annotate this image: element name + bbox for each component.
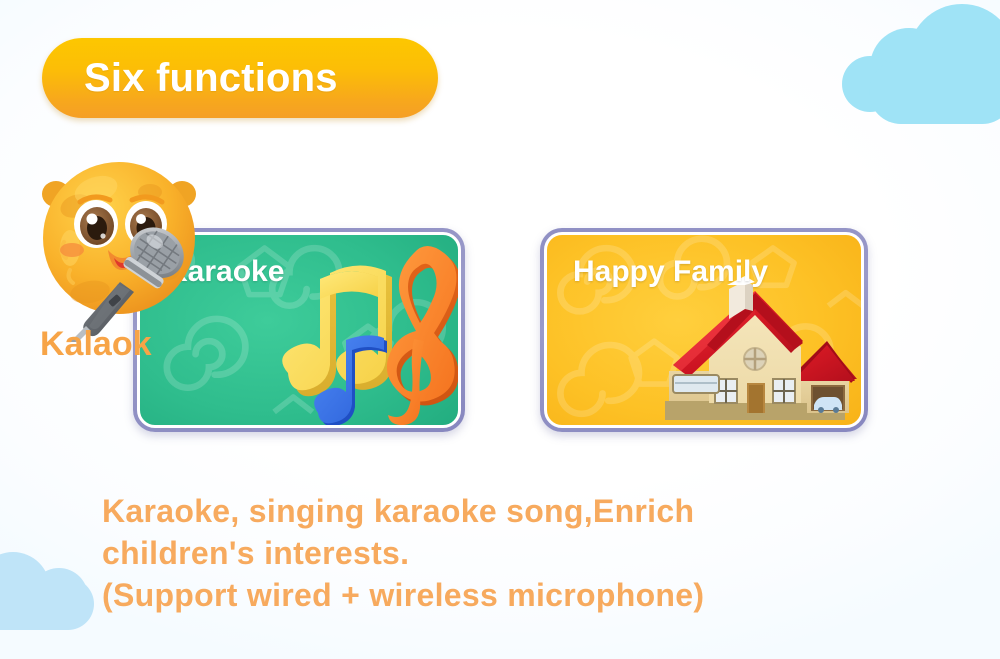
music-notes-icon [266,241,458,428]
caption-line-3: (Support wired + wireless microphone) [102,574,902,616]
kalaok-mascot-icon [30,146,210,342]
section-title-text: Six functions [42,56,338,101]
house-icon [651,275,857,425]
feature-card-happy-family[interactable]: Happy Family [540,228,868,432]
feature-card-happy-family-title: Happy Family [573,255,768,289]
section-title-badge: Six functions [42,38,438,118]
caption-line-1: Karaoke, singing karaoke song,Enrich [102,490,902,532]
cloud-bottom-left [0,538,112,648]
mascot-label: Kalaok [40,325,152,364]
caption-block: Karaoke, singing karaoke song,Enrich chi… [102,490,902,617]
cloud-top-right [860,0,1000,144]
caption-line-2: children's interests. [102,532,902,574]
promo-page: Six functions [0,0,1000,659]
feature-card-happy-family-inner: Happy Family [544,232,864,428]
